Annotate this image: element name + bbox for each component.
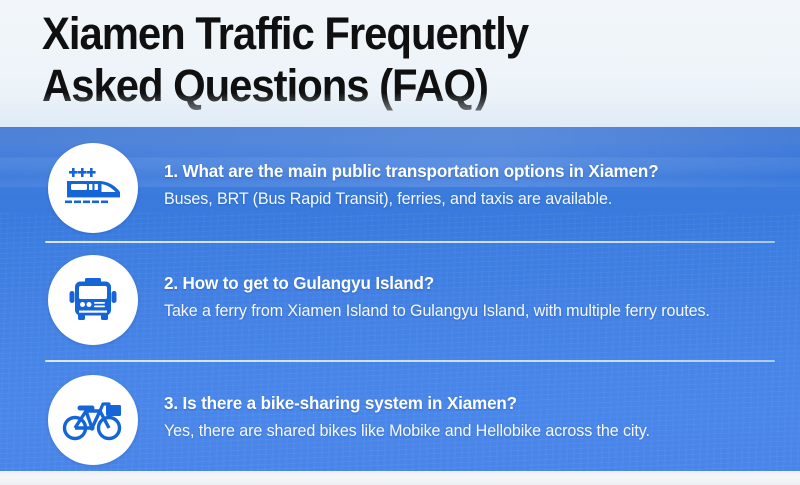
list-item[interactable]: 1. What are the main public transportati… — [0, 143, 800, 243]
divider — [45, 360, 775, 362]
list-item[interactable]: 3. Is there a bike-sharing system in Xia… — [0, 375, 800, 475]
faq-answer: Yes, there are shared bikes like Mobike … — [164, 420, 763, 443]
divider — [45, 241, 775, 243]
icon-badge — [48, 255, 138, 345]
faq-question: 2. How to get to Gulangyu Island? — [164, 271, 763, 295]
icon-badge — [48, 143, 138, 233]
faq-answer: Take a ferry from Xiamen Island to Gulan… — [164, 300, 763, 323]
bicycle-icon — [62, 398, 124, 442]
faq-text-block: 2. How to get to Gulangyu Island? Take a… — [164, 255, 800, 323]
list-item[interactable]: 2. How to get to Gulangyu Island? Take a… — [0, 255, 800, 361]
header-banner: Xiamen Traffic Frequently Asked Question… — [0, 0, 800, 127]
faq-text-block: 1. What are the main public transportati… — [164, 143, 800, 211]
faq-question: 1. What are the main public transportati… — [164, 159, 763, 183]
faq-list: 1. What are the main public transportati… — [0, 127, 800, 471]
footer-strip — [0, 471, 800, 485]
faq-answer: Buses, BRT (Bus Rapid Transit), ferries,… — [164, 188, 763, 211]
icon-badge — [48, 375, 138, 465]
page-title: Xiamen Traffic Frequently Asked Question… — [42, 8, 712, 112]
faq-question: 3. Is there a bike-sharing system in Xia… — [164, 391, 763, 415]
bus-front-icon — [68, 275, 118, 325]
high-speed-train-icon — [63, 165, 123, 211]
faq-infographic: Xiamen Traffic Frequently Asked Question… — [0, 0, 800, 485]
faq-text-block: 3. Is there a bike-sharing system in Xia… — [164, 375, 800, 443]
